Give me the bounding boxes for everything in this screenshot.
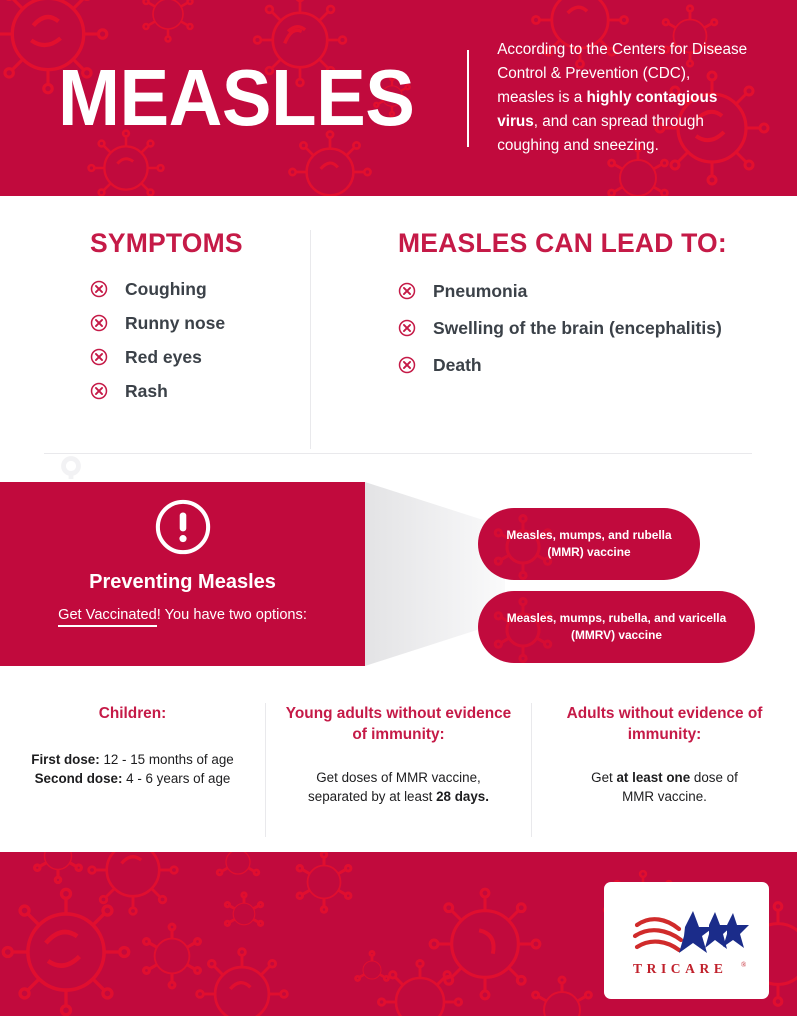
- get-vaccinated-link[interactable]: Get Vaccinated: [58, 607, 157, 627]
- complications-column: MEASLES CAN LEAD TO: Pneumonia: [311, 228, 797, 449]
- dose-line-value: Get doses of MMR vaccine,: [316, 770, 480, 785]
- symptoms-list: Coughing Runny nose: [90, 278, 310, 402]
- list-item: Pneumonia: [398, 280, 797, 302]
- footer-banner: TRICARE ®: [0, 852, 797, 1016]
- circle-x-icon: [90, 280, 108, 298]
- circle-x-icon: [398, 356, 416, 374]
- list-item: Runny nose: [90, 312, 310, 334]
- dose-heading: Young adults without evidence of immunit…: [284, 703, 513, 746]
- vaccine-option-mmrv-line1: Measles, mumps, rubella, and varicella: [507, 610, 726, 627]
- vaccine-option-mmr-line2: (MMR) vaccine: [506, 544, 671, 561]
- list-item-label: Runny nose: [125, 313, 225, 334]
- registered-trademark-icon: ®: [741, 961, 747, 969]
- vaccine-option-mmr-line1: Measles, mumps, and rubella: [506, 527, 671, 544]
- exclamation-circle-icon: [154, 498, 212, 556]
- list-item: Swelling of the brain (encephalitis): [398, 317, 797, 339]
- dose-line: First dose: 12 - 15 months of age: [18, 750, 247, 769]
- dose-line: Get at least one dose of: [550, 768, 779, 787]
- dose-line-highlight: at least one: [616, 770, 690, 785]
- complications-title: MEASLES CAN LEAD TO:: [398, 228, 797, 259]
- dose-body: First dose: 12 - 15 months of age Second…: [18, 750, 247, 788]
- list-item: Red eyes: [90, 346, 310, 368]
- dose-line: Get doses of MMR vaccine,: [284, 768, 513, 787]
- circle-x-icon: [90, 382, 108, 400]
- prevent-subtitle-rest: ! You have two options:: [157, 607, 307, 623]
- dose-line-label: Second dose:: [35, 771, 123, 786]
- header-vertical-rule: [467, 50, 469, 147]
- circle-x-icon: [90, 314, 108, 332]
- dose-heading: Adults without evidence of immunity:: [550, 703, 779, 746]
- dose-line-value: MMR vaccine.: [622, 789, 707, 804]
- circle-x-icon: [398, 319, 416, 337]
- dose-line-tail: dose of: [690, 770, 738, 785]
- symptoms-title: SYMPTOMS: [90, 228, 310, 259]
- dose-line-value: 12 - 15 months of age: [100, 752, 234, 767]
- dose-column-adults: Adults without evidence of immunity: Get…: [532, 703, 797, 852]
- list-item: Coughing: [90, 278, 310, 300]
- list-item-label: Coughing: [125, 279, 207, 300]
- complications-list: Pneumonia Swelling of the brain (encepha…: [398, 280, 797, 376]
- dose-column-young-adults: Young adults without evidence of immunit…: [266, 703, 531, 852]
- list-item-label: Death: [433, 355, 482, 376]
- symptoms-column: SYMPTOMS Coughing Runn: [0, 228, 310, 449]
- dose-line: Second dose: 4 - 6 years of age: [18, 769, 247, 788]
- dose-heading: Children:: [18, 703, 247, 724]
- circle-x-icon: [398, 282, 416, 300]
- header-banner: MEASLES According to the Centers for Dis…: [0, 0, 797, 196]
- vaccine-option-mmrv-line2: (MMRV) vaccine: [507, 627, 726, 644]
- vaccine-option-mmrv[interactable]: Measles, mumps, rubella, and varicella (…: [478, 591, 755, 663]
- dose-line-value: separated by at least: [308, 789, 436, 804]
- dose-line-value: Get: [591, 770, 616, 785]
- list-item-label: Rash: [125, 381, 168, 402]
- tricare-logo-card: TRICARE ®: [604, 882, 769, 999]
- dose-line-label: First dose:: [31, 752, 99, 767]
- dose-column-children: Children: First dose: 12 - 15 months of …: [0, 703, 265, 852]
- infographic-page: MEASLES According to the Centers for Dis…: [0, 0, 797, 1024]
- tricare-logo: TRICARE ®: [623, 903, 751, 979]
- dose-body: Get at least one dose of MMR vaccine.: [550, 768, 779, 806]
- dose-line-value: 4 - 6 years of age: [122, 771, 230, 786]
- symptoms-complications-section: SYMPTOMS Coughing Runn: [0, 196, 797, 479]
- page-title: MEASLES: [58, 61, 414, 135]
- tricare-wordmark: TRICARE: [633, 961, 727, 976]
- dose-line-highlight: 28 days.: [436, 789, 489, 804]
- list-item-label: Swelling of the brain (encephalitis): [433, 318, 722, 339]
- dosing-columns-section: Children: First dose: 12 - 15 months of …: [0, 687, 797, 852]
- prevent-title: Preventing Measles: [89, 571, 276, 594]
- dose-body: Get doses of MMR vaccine, separated by a…: [284, 768, 513, 806]
- dose-line: MMR vaccine.: [550, 787, 779, 806]
- section-horizontal-divider: [44, 453, 752, 454]
- list-item: Death: [398, 354, 797, 376]
- dose-line: separated by at least 28 days.: [284, 787, 513, 806]
- prevent-subtitle: Get Vaccinated! You have two options:: [58, 607, 307, 623]
- header-description: According to the Centers for Disease Con…: [497, 38, 749, 157]
- circle-x-icon: [90, 348, 108, 366]
- list-item-label: Pneumonia: [433, 281, 527, 302]
- vaccine-option-mmr[interactable]: Measles, mumps, and rubella (MMR) vaccin…: [478, 508, 700, 580]
- list-item-label: Red eyes: [125, 347, 202, 368]
- list-item: Rash: [90, 380, 310, 402]
